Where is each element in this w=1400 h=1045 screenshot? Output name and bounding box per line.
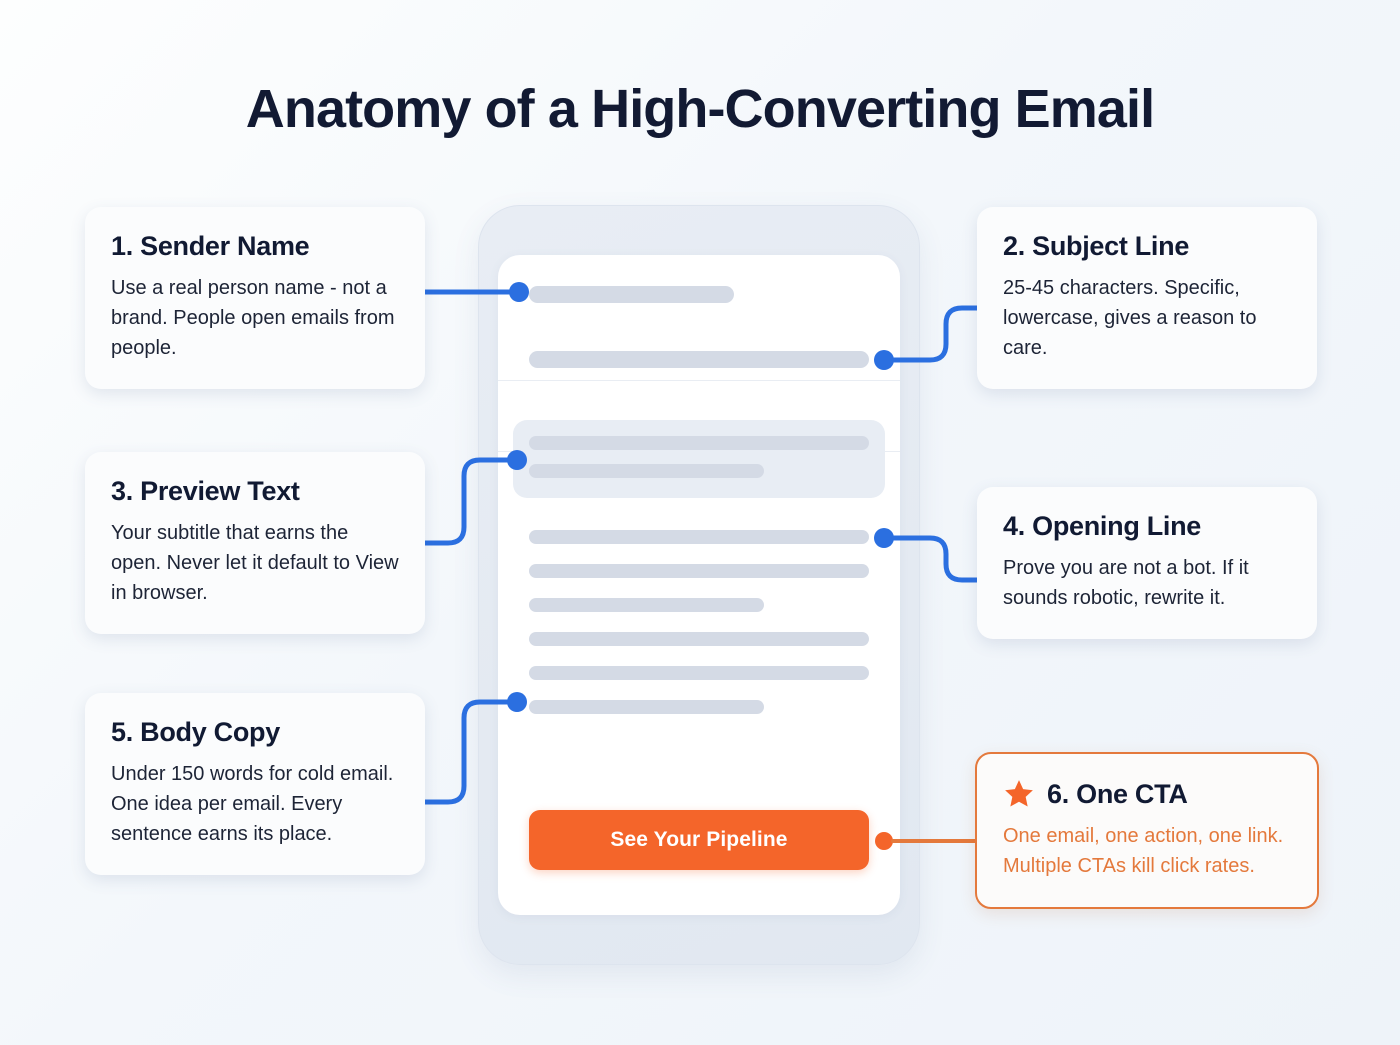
body-copy-bar-2 (529, 564, 869, 578)
card-heading: 1. Sender Name (111, 231, 399, 262)
body-copy-bar-3 (529, 598, 764, 612)
annotation-card-body-copy[interactable]: 5. Body Copy Under 150 words for cold em… (85, 693, 425, 875)
annotation-card-sender-name[interactable]: 1. Sender Name Use a real person name - … (85, 207, 425, 389)
cta-button[interactable]: See Your Pipeline (529, 810, 869, 870)
card-heading-row: 6. One CTA (1003, 778, 1291, 810)
email-preview-screen: See Your Pipeline (498, 255, 900, 915)
infographic-canvas: Anatomy of a High-Converting Email See Y… (0, 0, 1400, 1045)
body-copy-bar-4 (529, 632, 869, 646)
sender-name-bar (529, 286, 734, 303)
card-heading: 5. Body Copy (111, 717, 399, 748)
preview-text-block (513, 420, 885, 498)
card-heading: 6. One CTA (1047, 779, 1188, 810)
card-body: 25-45 characters. Specific, lowercase, g… (1003, 273, 1291, 363)
card-body: Use a real person name - not a brand. Pe… (111, 273, 399, 363)
divider-1 (498, 380, 900, 381)
annotation-card-preview-text[interactable]: 3. Preview Text Your subtitle that earns… (85, 452, 425, 634)
preview-text-bar-2 (529, 464, 764, 478)
card-body: Your subtitle that earns the open. Never… (111, 518, 399, 608)
card-heading: 3. Preview Text (111, 476, 399, 507)
annotation-card-subject-line[interactable]: 2. Subject Line 25-45 characters. Specif… (977, 207, 1317, 389)
card-heading: 4. Opening Line (1003, 511, 1291, 542)
star-icon (1003, 778, 1035, 810)
subject-line-bar (529, 351, 869, 368)
card-body: One email, one action, one link. Multipl… (1003, 821, 1291, 881)
card-body: Prove you are not a bot. If it sounds ro… (1003, 553, 1291, 613)
annotation-card-opening-line[interactable]: 4. Opening Line Prove you are not a bot.… (977, 487, 1317, 639)
card-body: Under 150 words for cold email. One idea… (111, 759, 399, 849)
body-copy-bar-1 (529, 530, 869, 544)
body-copy-bar-5 (529, 666, 869, 680)
card-heading: 2. Subject Line (1003, 231, 1291, 262)
preview-text-bar-1 (529, 436, 869, 450)
body-copy-bar-6 (529, 700, 764, 714)
page-title: Anatomy of a High-Converting Email (0, 78, 1400, 140)
annotation-card-one-cta[interactable]: 6. One CTA One email, one action, one li… (975, 752, 1319, 909)
